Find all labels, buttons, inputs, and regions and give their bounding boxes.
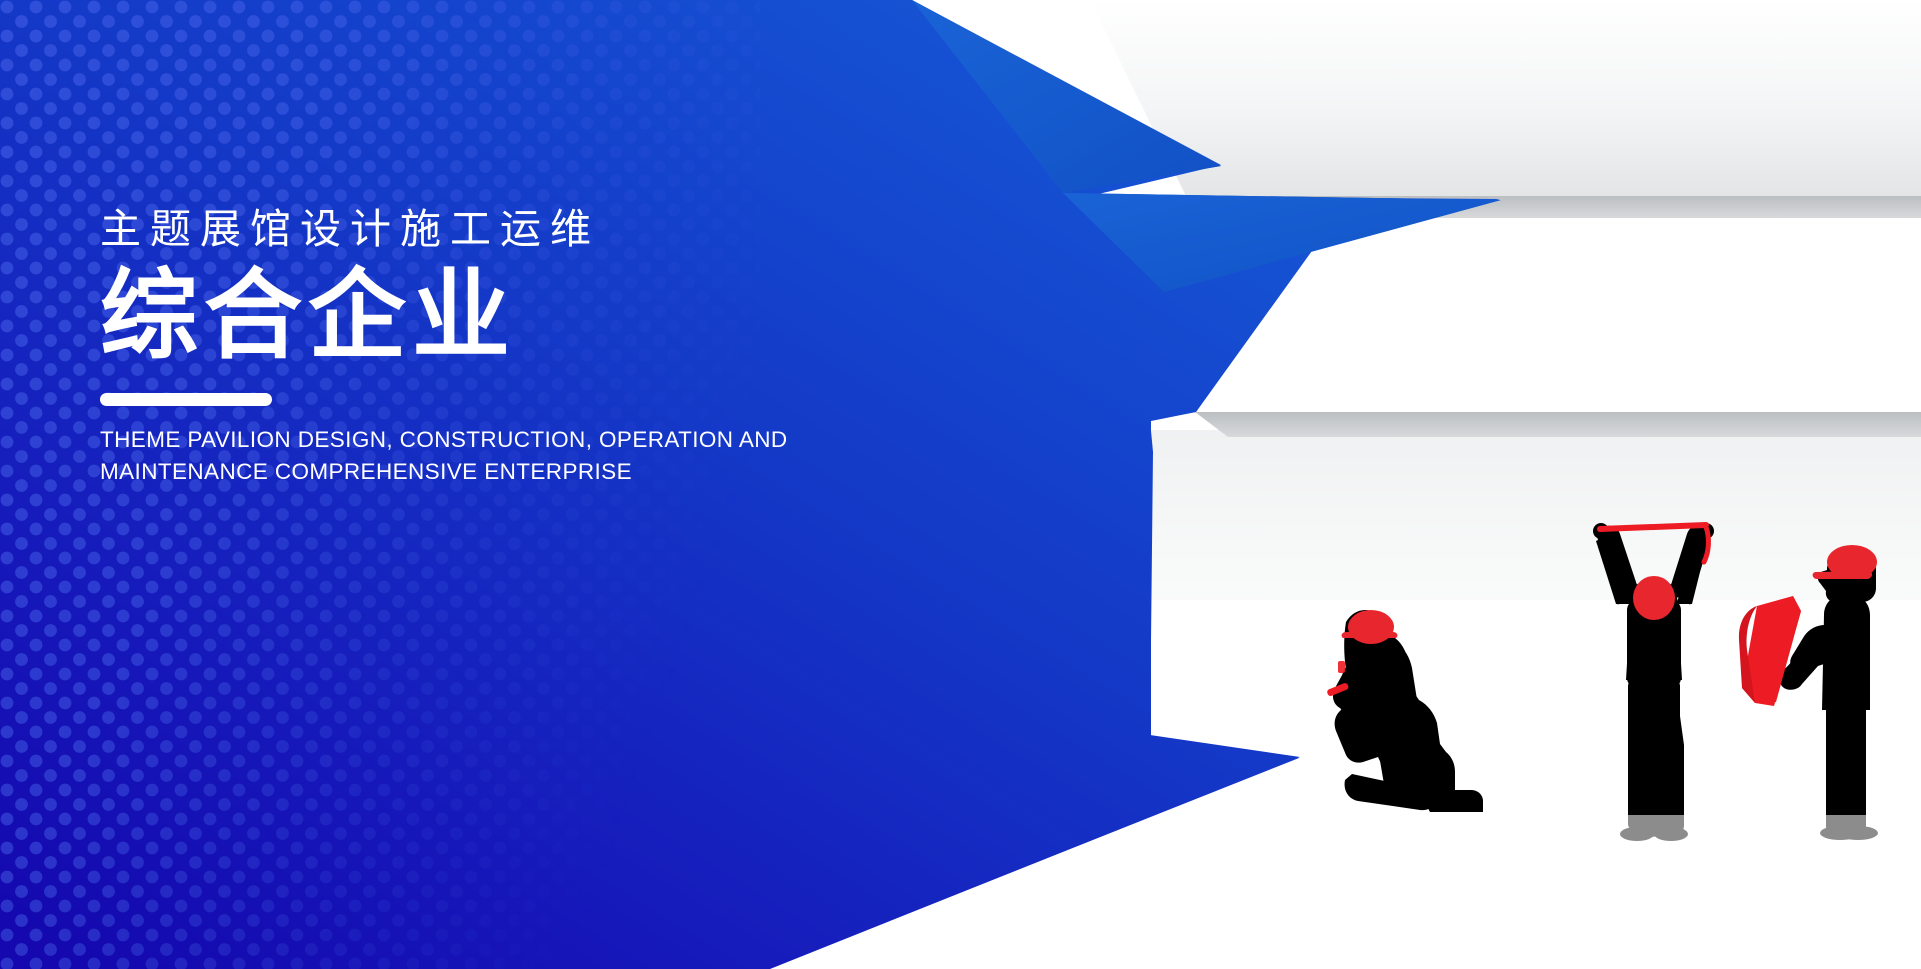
subtitle-english: THEME PAVILION DESIGN, CONSTRUCTION, OPE… [100, 424, 800, 488]
headline-chinese-main: 综合企业 [100, 261, 860, 371]
ribbon-band-middle-shadow [1195, 412, 1921, 437]
headline-chinese-sub: 主题展馆设计施工运维 [100, 205, 860, 253]
subtitle-english-line1: THEME PAVILION DESIGN, CONSTRUCTION, OPE… [100, 424, 800, 456]
white-rounded-accent-bar [100, 393, 272, 406]
subtitle-english-line2: MAINTENANCE COMPREHENSIVE ENTERPRISE [100, 456, 800, 488]
headline-block: 主题展馆设计施工运维 综合企业 THEME PAVILION DESIGN, C… [100, 205, 860, 488]
hero-banner: 主题展馆设计施工运维 综合企业 THEME PAVILION DESIGN, C… [0, 0, 1921, 969]
